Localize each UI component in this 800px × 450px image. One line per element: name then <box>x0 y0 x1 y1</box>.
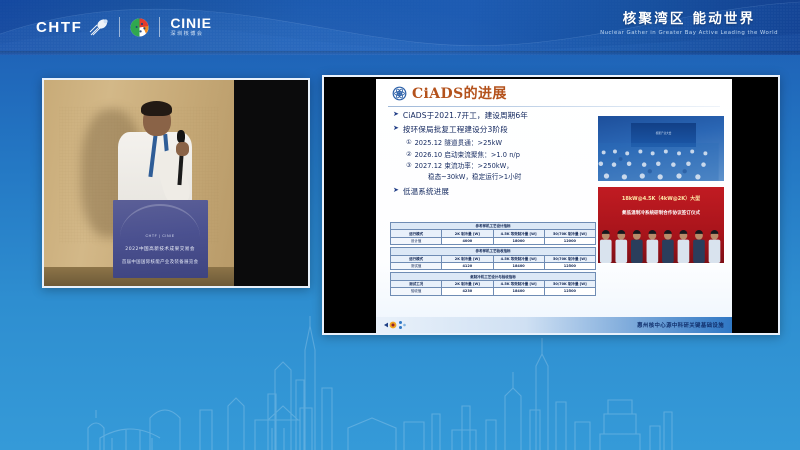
sub-bullet-number: ③ <box>406 162 412 170</box>
sub-bullet-number: ② <box>406 151 412 159</box>
bullet-arrow-icon: ➤ <box>393 111 399 120</box>
bullet-arrow-icon: ➤ <box>393 125 399 134</box>
table-row: 运行模式 2K 制冷量 [W] 4.5K 等效制冷量 [W] 50/70K 制冷… <box>391 255 596 262</box>
stage-screen-text: 核能产业大会 <box>631 131 697 135</box>
cinie-logo-block: CINIE 深圳核博会 <box>170 16 211 37</box>
table-header-cell: 50/70K 制冷量 [W] <box>544 280 595 287</box>
table-header-cell: 2K 制冷量 [W] <box>442 280 493 287</box>
spec-table-3: 氦制冷机工艺设计与验收指标 测试工况 2K 制冷量 [W] 4.5K 等效制冷量… <box>390 272 596 295</box>
table-header-cell: 2K 制冷量 [W] <box>442 230 493 237</box>
table-row: 测试值 4120 18400 12500 <box>391 262 596 269</box>
bullet-text: 低温系统进展 <box>403 187 449 196</box>
slide-title-row: CiADS的进展 <box>392 86 507 101</box>
table-cell: 4000 <box>442 237 493 244</box>
slide-footer-text: 惠州核中心源中科研关键基础设施 <box>637 321 724 329</box>
table-header-cell: 4.5K 等效制冷量 [W] <box>493 255 544 262</box>
table-cell: 18400 <box>493 262 544 269</box>
podium-logo-text: CHTF | CINIE <box>113 234 208 238</box>
slide-title-text: CiADS的进展 <box>412 87 507 101</box>
slide-footer: 惠州核中心源中科研关键基础设施 <box>376 317 732 333</box>
cinie-globe-icon <box>130 18 149 37</box>
slogan-english: Nuclear Gather in Greater Bay Active Lea… <box>600 30 778 36</box>
signing-ceremony-photo: 18kW@4.5K（4kW@2K）大型 氦低温制冷系统研制合作协议签订仪式 <box>597 186 725 264</box>
table-row: 设计值 4000 18000 12000 <box>391 237 596 244</box>
table-row: 运行模式 2K 制冷量 [W] 4.5K 等效制冷量 [W] 50/70K 制冷… <box>391 230 596 237</box>
table-row: 氦制冷机工艺设计与验收指标 <box>391 273 596 280</box>
logo-divider <box>119 17 120 37</box>
badminton-shuttle-icon <box>89 17 109 37</box>
table-header-cell: 4.5K 等效制冷量 [W] <box>493 230 544 237</box>
ceremony-banner-line1: 18kW@4.5K（4kW@2K）大型 <box>602 196 720 202</box>
sub-bullet-item: ① 2025.12 隧道贯通：>25kW <box>406 139 608 148</box>
table-group-header: 氦制冷机工艺设计与验收指标 <box>391 273 596 280</box>
header-bottom-fade <box>0 51 800 55</box>
table-cell: 18400 <box>493 288 544 295</box>
sub-bullet-item: ③ 2027.12 束流功率：>250kW， <box>406 162 608 171</box>
audience-crowd <box>598 143 719 181</box>
bullet-text: CiADS于2021.7开工，建设周期6年 <box>403 111 528 120</box>
footer-logo-dots <box>382 320 408 330</box>
table-cell: 12500 <box>544 262 595 269</box>
table-header-cell: 2K 制冷量 [W] <box>442 255 493 262</box>
slide-bullet-list: ➤ CiADS于2021.7开工，建设周期6年 ➤ 按环保局批复工程建设分3阶段… <box>393 111 608 201</box>
event-slogan: 核聚湾区 能动世界 Nuclear Gather in Greater Bay … <box>600 12 778 36</box>
cryogenic-spec-tables: 参考样机工艺设计指标 运行模式 2K 制冷量 [W] 4.5K 等效制冷量 [W… <box>390 222 596 296</box>
table-header-cell: 运行模式 <box>391 230 442 237</box>
table-row: 参考样机工艺设计指标 <box>391 223 596 230</box>
spec-table-2: 参考样机工艺验收指标 运行模式 2K 制冷量 [W] 4.5K 等效制冷量 [W… <box>390 247 596 270</box>
chtf-logo-text: CHTF <box>36 20 82 35</box>
speaker-video-panel[interactable]: CHTF | CINIE 2022中国高新技术成果交易会 首届中国国际核能产业及… <box>42 78 310 288</box>
table-header-cell: 测试工况 <box>391 280 442 287</box>
sub-bullet-continuation: 稳态~30kW，稳定运行>1小时 <box>428 173 608 182</box>
slide-sub-bullet-list: ① 2025.12 隧道贯通：>25kW ② 2026.10 启动束流聚焦：>1… <box>406 139 608 182</box>
conference-audience-photo: 核能产业大会 <box>597 115 725 182</box>
table-cell: 12500 <box>544 288 595 295</box>
bullet-item: ➤ 低温系统进展 <box>393 187 608 196</box>
table-row-label: 设计值 <box>391 237 442 244</box>
cinie-logo-subtitle: 深圳核博会 <box>170 32 211 37</box>
logo-divider-2 <box>159 17 160 37</box>
sub-bullet-text: 2027.12 束流功率：>250kW， <box>415 162 513 171</box>
podium-arc-graphic <box>120 204 200 237</box>
microphone-icon <box>177 130 186 142</box>
ceremony-banner-line2: 氦低温制冷系统研制合作协议签订仪式 <box>602 211 720 217</box>
event-logo-lockup[interactable]: CHTF <box>36 14 212 40</box>
podium-line2: 首届中国国际核能产业及装备展览会 <box>113 259 208 265</box>
bullet-item: ➤ CiADS于2021.7开工，建设周期6年 <box>393 111 608 120</box>
table-row: 测试工况 2K 制冷量 [W] 4.5K 等效制冷量 [W] 50/70K 制冷… <box>391 280 596 287</box>
table-header-cell: 50/70K 制冷量 [W] <box>544 230 595 237</box>
table-group-header: 参考样机工艺设计指标 <box>391 223 596 230</box>
table-row: 验收值 4230 18400 12500 <box>391 288 596 295</box>
screen-stage: CHTF <box>0 0 800 450</box>
ceremony-people-row <box>598 228 722 263</box>
table-cell: 12000 <box>544 237 595 244</box>
table-row-label: 测试值 <box>391 262 442 269</box>
slide-content: CiADS的进展 ➤ CiADS于2021.7开工，建设周期6年 ➤ 按环保局批… <box>376 79 732 333</box>
atom-icon <box>392 86 407 101</box>
podium-line1: 2022中国高新技术成果交易会 <box>113 246 208 252</box>
sub-bullet-text: 2026.10 启动束流聚焦：>1.0 n/p <box>415 151 520 160</box>
table-header-cell: 50/70K 制冷量 [W] <box>544 255 595 262</box>
slogan-chinese: 核聚湾区 能动世界 <box>600 12 778 27</box>
sub-bullet-text: 2025.12 隧道贯通：>25kW <box>415 139 502 148</box>
table-row-label: 验收值 <box>391 288 442 295</box>
sub-bullet-number: ① <box>406 139 412 147</box>
table-header-cell: 运行模式 <box>391 255 442 262</box>
sub-bullet-item: ② 2026.10 启动束流聚焦：>1.0 n/p <box>406 151 608 160</box>
table-cell: 4230 <box>442 288 493 295</box>
spec-table-1: 参考样机工艺设计指标 运行模式 2K 制冷量 [W] 4.5K 等效制冷量 [W… <box>390 222 596 245</box>
table-cell: 4120 <box>442 262 493 269</box>
speaker-hair <box>141 101 172 116</box>
speaker-hand <box>176 142 189 156</box>
bullet-text: 按环保局批复工程建设分3阶段 <box>403 125 508 134</box>
video-dark-side-bar <box>234 80 308 286</box>
presentation-slide-panel[interactable]: CiADS的进展 ➤ CiADS于2021.7开工，建设周期6年 ➤ 按环保局批… <box>322 75 780 335</box>
bullet-item: ➤ 按环保局批复工程建设分3阶段 <box>393 125 608 134</box>
table-row: 参考样机工艺验收指标 <box>391 248 596 255</box>
event-header-banner: CHTF <box>0 0 800 55</box>
table-cell: 18000 <box>493 237 544 244</box>
cinie-logo-text: CINIE <box>170 16 211 30</box>
speaker-video-frame: CHTF | CINIE 2022中国高新技术成果交易会 首届中国国际核能产业及… <box>44 80 308 286</box>
slide-title-rule <box>388 106 720 107</box>
table-group-header: 参考样机工艺验收指标 <box>391 248 596 255</box>
podium: CHTF | CINIE 2022中国高新技术成果交易会 首届中国国际核能产业及… <box>113 200 208 278</box>
bullet-arrow-icon: ➤ <box>393 187 399 196</box>
table-header-cell: 4.5K 等效制冷量 [W] <box>493 280 544 287</box>
